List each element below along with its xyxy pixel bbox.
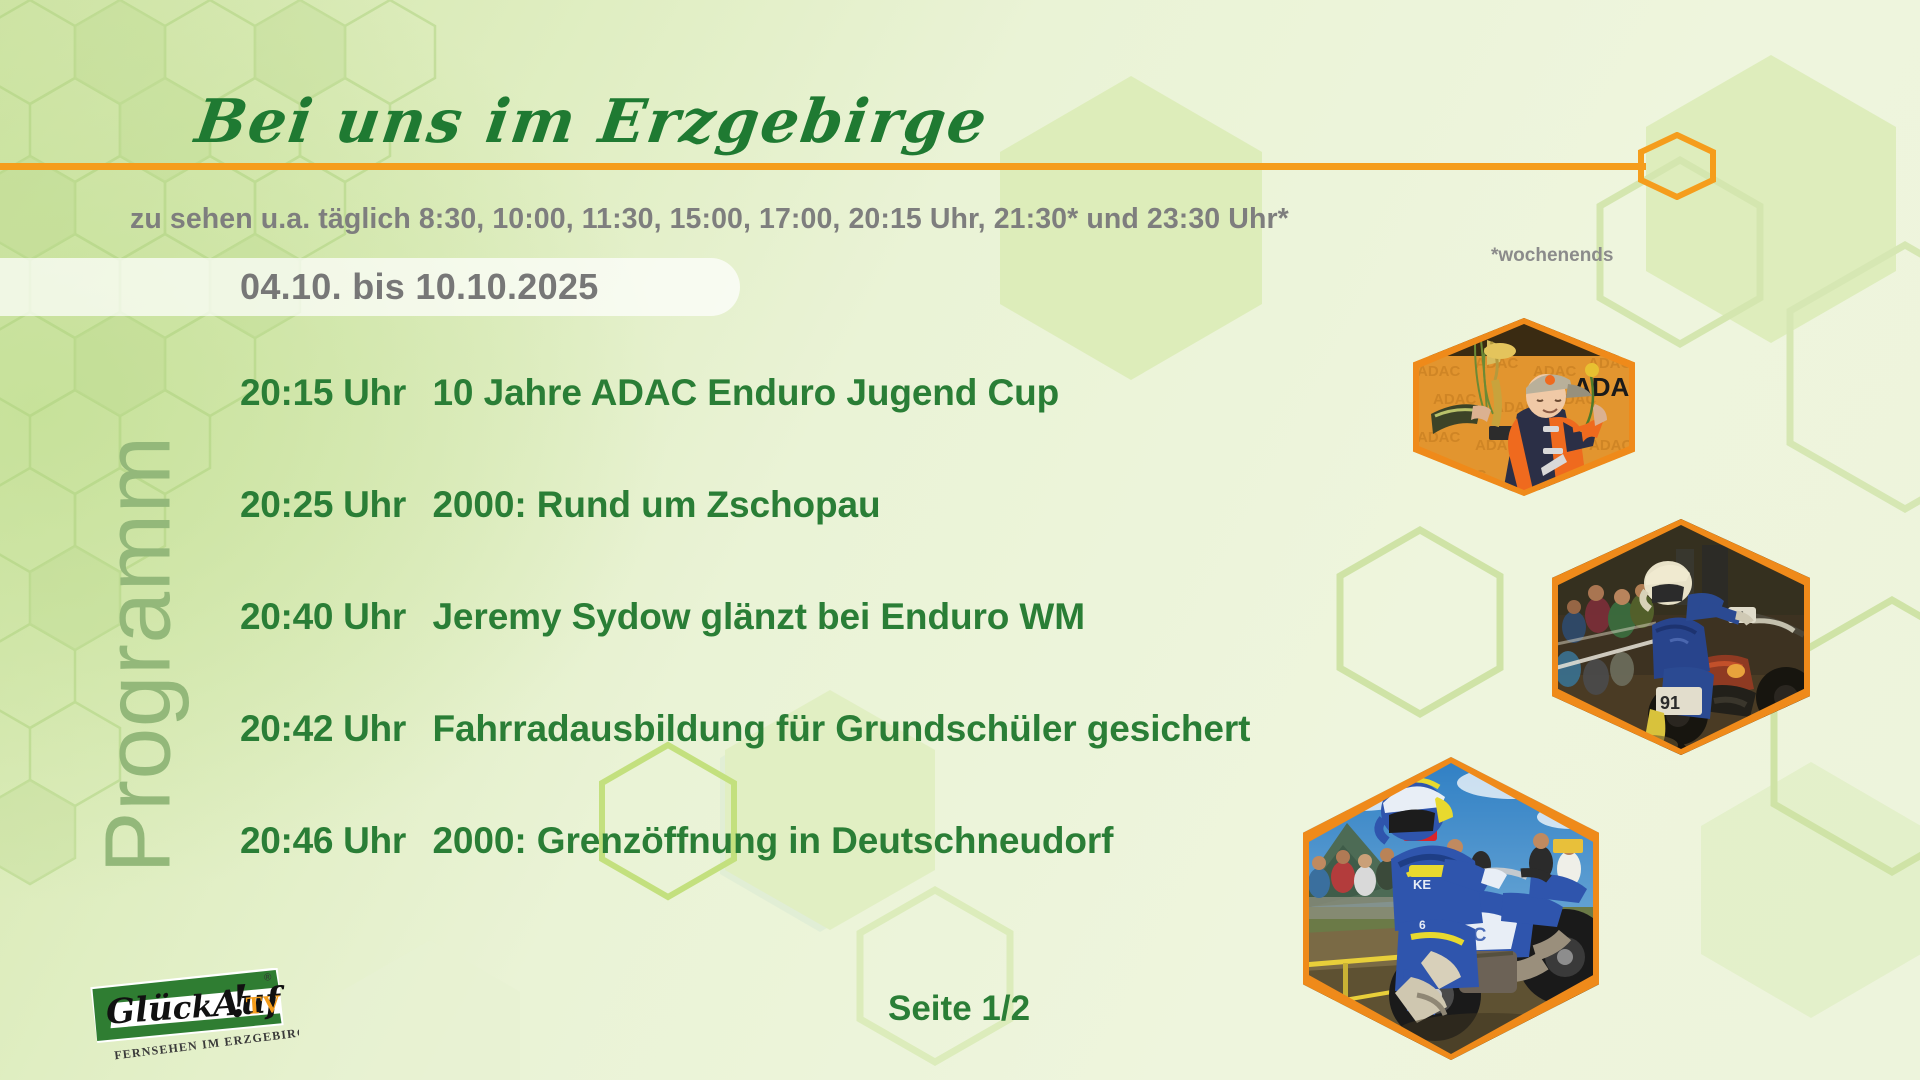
svg-text:91: 91 (1660, 693, 1680, 713)
program-time: 20:40 Uhr (240, 596, 428, 638)
program-title: Fahrradausbildung für Grundschüler gesic… (432, 708, 1250, 750)
svg-text:ADAC: ADAC (1443, 467, 1486, 484)
header-divider-rule (0, 163, 1646, 170)
program-time: 20:15 Uhr (240, 372, 428, 414)
muddy-enduro-race-photo: 61 91 (1552, 519, 1810, 755)
svg-text:6: 6 (1419, 918, 1426, 932)
youth-rider-trophy-photo: ADACADACADAC ADACADACADAC ADACADACADAC A… (1413, 318, 1635, 496)
svg-text:ADA: ADA (1573, 372, 1630, 402)
program-row[interactable]: 20:15 Uhr 10 Jahre ADAC Enduro Jugend Cu… (240, 372, 1059, 414)
blue-enduro-wheelie-photo: CC KE 6 (1303, 757, 1599, 1060)
logo-registered-mark: ® (264, 972, 273, 984)
weekend-footnote: *wochenends (1491, 245, 1613, 267)
program-title: 10 Jahre ADAC Enduro Jugend Cup (432, 372, 1059, 414)
svg-text:ADAC: ADAC (1589, 437, 1632, 454)
page-title: Bei uns im Erzgebirge (191, 87, 993, 157)
program-time: 20:42 Uhr (240, 708, 428, 750)
svg-text:ADAC: ADAC (1417, 429, 1460, 446)
date-range-label: 04.10. bis 10.10.2025 (240, 266, 599, 308)
youth-rider-trophy-image: ADACADACADAC ADACADACADAC ADACADACADAC A… (1413, 318, 1635, 496)
svg-text:KE: KE (1413, 877, 1431, 892)
section-label-programm: Programm (85, 234, 192, 874)
program-row[interactable]: 20:46 Uhr 2000: Grenzöffnung in Deutschn… (240, 820, 1113, 862)
program-title: 2000: Grenzöffnung in Deutschneudorf (432, 820, 1113, 862)
glueckauf-tv-logo: GlückAuf ! TV ® FERNSEHEN IM ERZGEBIRGE (84, 968, 299, 1064)
muddy-enduro-race-image: 61 91 (1552, 519, 1810, 755)
program-row[interactable]: 20:42 Uhr Fahrradausbildung für Grundsch… (240, 708, 1250, 750)
page-indicator: Seite 1/2 (888, 989, 1030, 1029)
blue-enduro-wheelie-image: CC KE 6 (1303, 757, 1599, 1060)
program-row[interactable]: 20:25 Uhr 2000: Rund um Zschopau (240, 484, 881, 526)
program-time: 20:46 Uhr (240, 820, 428, 862)
broadcast-times: zu sehen u.a. täglich 8:30, 10:00, 11:30… (130, 203, 1289, 236)
svg-text:ADAC: ADAC (1417, 363, 1460, 380)
program-title: Jeremy Sydow glänzt bei Enduro WM (432, 596, 1085, 638)
program-row[interactable]: 20:40 Uhr Jeremy Sydow glänzt bei Enduro… (240, 596, 1085, 638)
program-title: 2000: Rund um Zschopau (432, 484, 880, 526)
program-time: 20:25 Uhr (240, 484, 428, 526)
rule-hexagon-endcap (1638, 132, 1716, 200)
logo-tv: TV (245, 991, 282, 1020)
